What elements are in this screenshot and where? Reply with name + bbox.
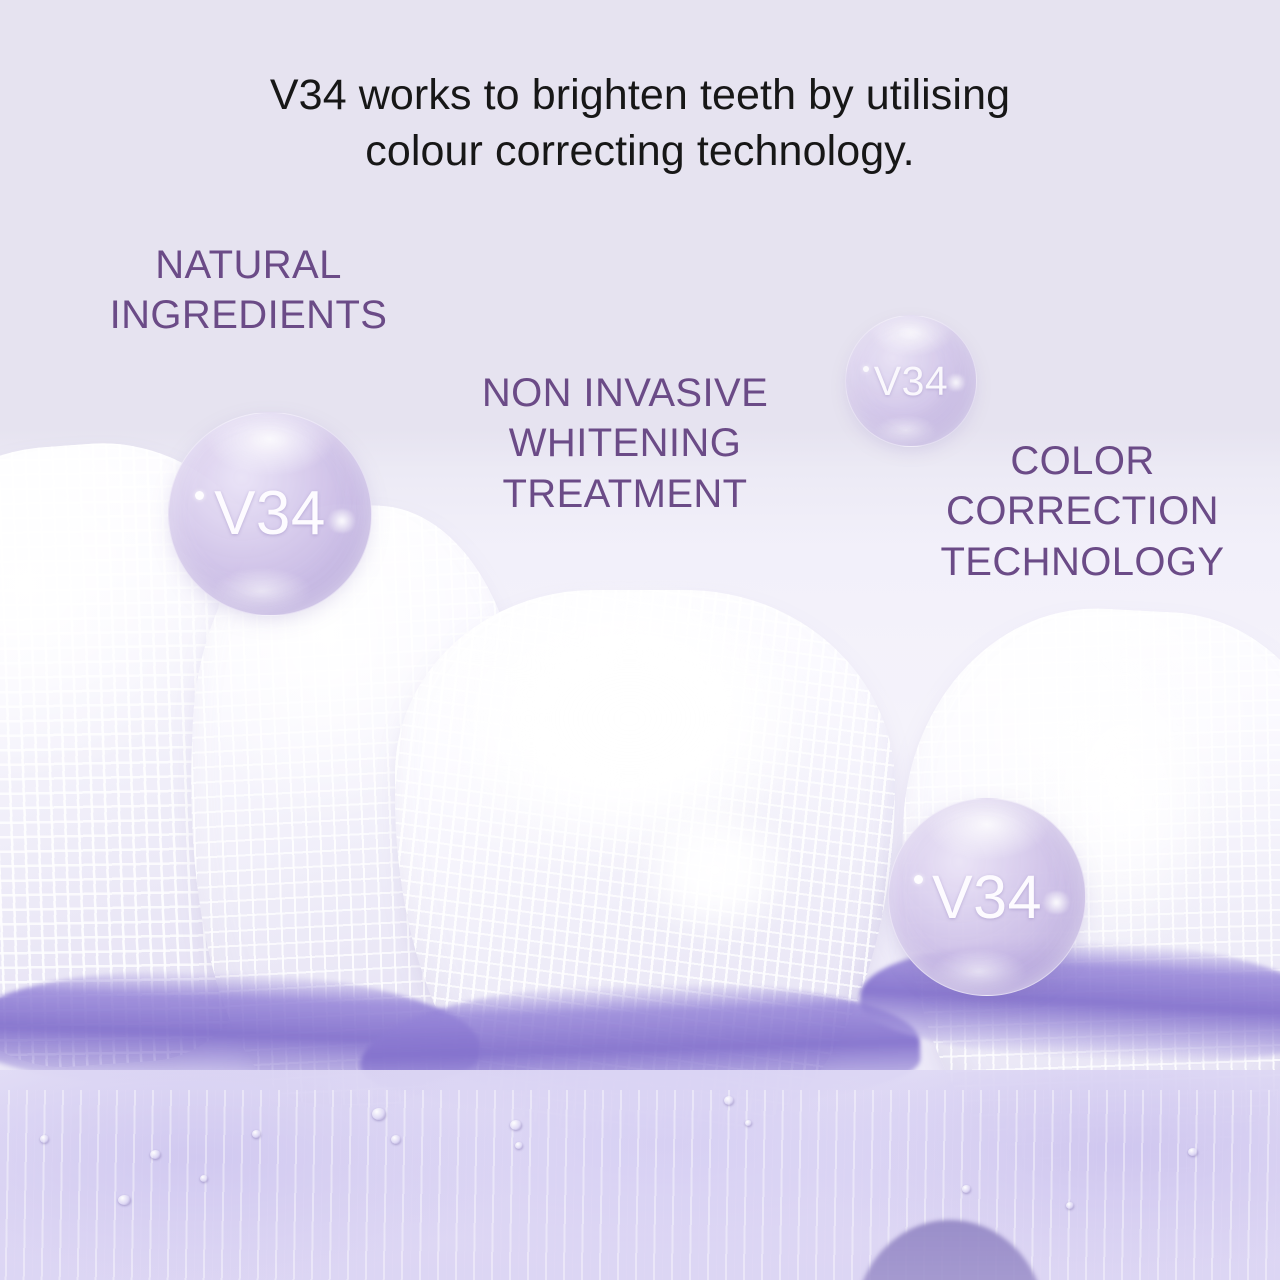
bubble-dot-icon — [195, 491, 204, 500]
v34-bubble-label: V34 — [932, 867, 1042, 928]
bubble-dot-icon — [914, 875, 923, 884]
v34-bubble-large-right: V34 — [888, 798, 1086, 996]
feature-label-color-correction-technology: COLOR CORRECTION TECHNOLOGY — [885, 436, 1280, 587]
feature-label-natural-ingredients: NATURAL INGREDIENTS — [56, 240, 441, 341]
tooth-mesh-texture — [395, 590, 895, 1130]
headline-line-2: colour correcting technology. — [0, 124, 1280, 180]
bubble-glint-icon — [325, 509, 359, 533]
headline: V34 works to brighten teeth by utilising… — [0, 68, 1280, 180]
v34-bubble-large-left: V34 — [168, 412, 372, 616]
v34-bubble-small-top: V34 — [845, 315, 977, 447]
promo-graphic: V34 V34 V34 V34 works to brighten teeth … — [0, 0, 1280, 1280]
feature-label-non-invasive-whitening-treatment: NON INVASIVE WHITENING TREATMENT — [440, 368, 810, 519]
bubble-glint-icon — [1040, 891, 1073, 914]
v34-bubble-label: V34 — [874, 361, 948, 402]
headline-line-1: V34 works to brighten teeth by utilising — [0, 68, 1280, 124]
tooth-center — [395, 590, 895, 1130]
bubble-dot-icon — [863, 366, 869, 372]
v34-bubble-label: V34 — [214, 483, 326, 545]
